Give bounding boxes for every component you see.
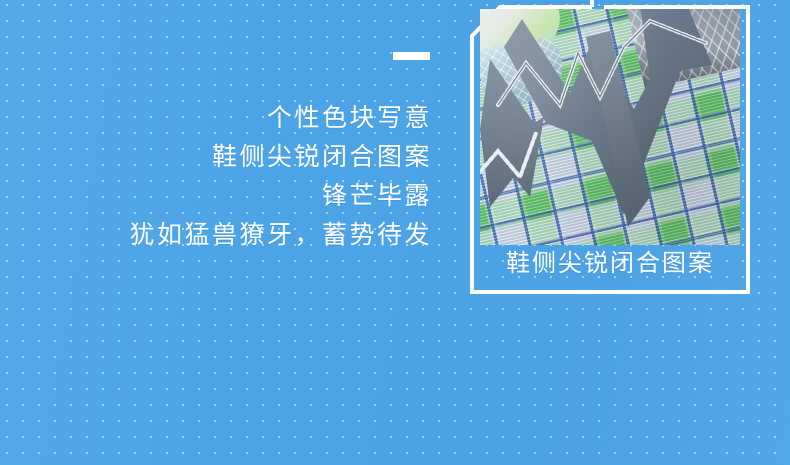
shoe-side-detail-photo [480,9,740,245]
zigzag-fang-overlay [480,9,740,245]
headline-line-1: 个性色块写意 [40,99,432,138]
headline-line-4: 犹如猛兽獠牙，蓄势待发 [40,216,432,255]
headline-line-3: 锋芒毕露 [40,177,432,216]
headline-line-2: 鞋侧尖锐闭合图案 [40,138,432,177]
promo-banner: 个性色块写意 鞋侧尖锐闭合图案 锋芒毕露 犹如猛兽獠牙，蓄势待发 [0,0,790,465]
horizontal-dash-rule [393,52,430,60]
product-detail-photo-card: 鞋侧尖锐闭合图案 [470,0,750,294]
headline-copy-block: 个性色块写意 鞋侧尖锐闭合图案 锋芒毕露 犹如猛兽獠牙，蓄势待发 [40,52,432,255]
photo-caption: 鞋侧尖锐闭合图案 [470,250,750,278]
